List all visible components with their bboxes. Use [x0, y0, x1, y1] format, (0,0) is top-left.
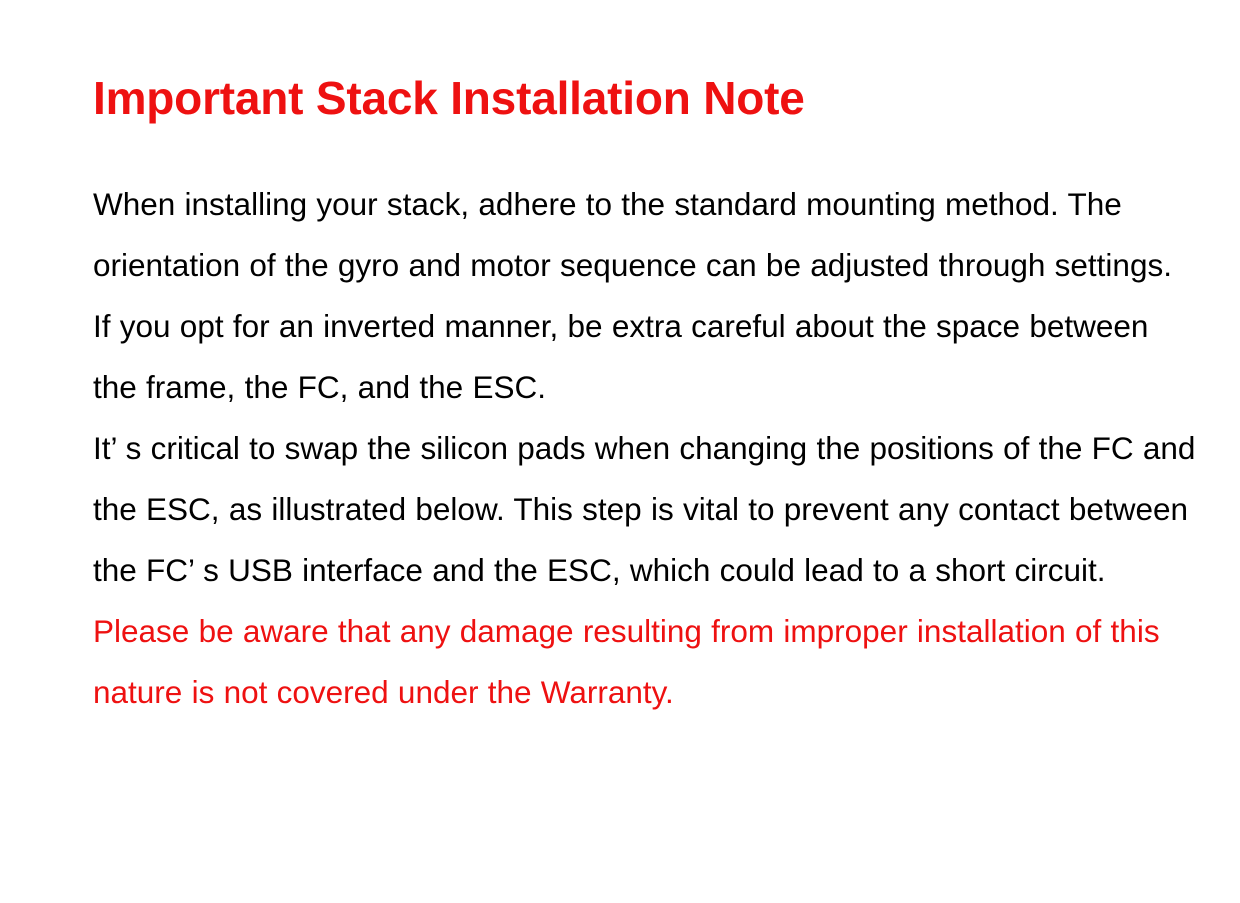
paragraph-1-text: When installing your stack, adhere to th…	[93, 186, 1172, 405]
page-title: Important Stack Installation Note	[93, 68, 805, 128]
warranty-warning-text: Please be aware that any damage resultin…	[93, 613, 1160, 710]
paragraph-2-black-text: It’ s critical to swap the silicon pads …	[93, 430, 1195, 588]
paragraph-silicon-pads: It’ s critical to swap the silicon pads …	[93, 418, 1197, 723]
note-body: When installing your stack, adhere to th…	[93, 174, 1197, 723]
note-page: Important Stack Installation Note When i…	[0, 0, 1240, 903]
paragraph-mounting-method: When installing your stack, adhere to th…	[93, 174, 1197, 418]
